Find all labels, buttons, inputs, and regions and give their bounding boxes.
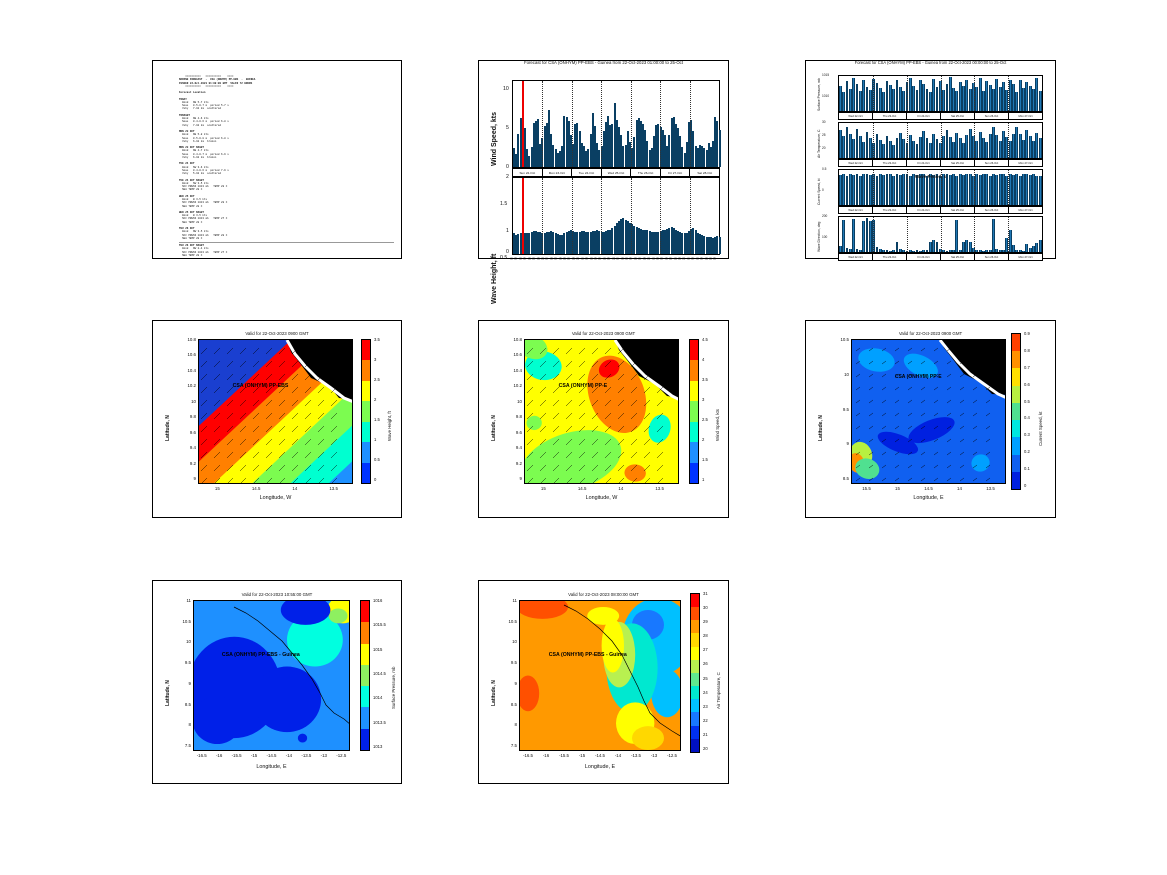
stack-plot-area-1 <box>838 122 1043 159</box>
bar <box>719 130 721 167</box>
map_current-colorbar-tick: 0.7 <box>1024 365 1030 370</box>
day-label-cell: Fri 24-Oct <box>907 160 941 166</box>
gridline <box>974 76 975 111</box>
colorbar-segment <box>362 360 370 380</box>
gridline <box>941 76 942 111</box>
colorbar-segment <box>691 647 699 660</box>
contour-blob <box>194 696 242 744</box>
wave-ytick-0: 0 <box>506 249 509 255</box>
map_wind-colorbar-tick: 3.5 <box>702 377 708 382</box>
airtemp-map-colorbar <box>690 593 700 753</box>
map_wind-colorbar-tick: 1 <box>702 477 704 482</box>
day-label-cell: Mon 23-Oct <box>543 169 573 176</box>
map_airtemp-ytick: 10.5 <box>504 619 517 624</box>
map_current-xtick: 15 <box>889 486 907 491</box>
stack-ytick: 0 <box>822 188 824 192</box>
day-label-cell: Tue 24-Oct <box>572 169 602 176</box>
map_pressure-ytick: 9 <box>178 681 191 686</box>
stack-ylabel-2: Current Speed, kt <box>817 178 821 205</box>
map_pressure-ytick: 8.5 <box>178 702 191 707</box>
map_wave-xtick: 14 <box>286 486 304 491</box>
colorbar-segment <box>691 620 699 633</box>
day-label-cell: Sun 26-Oct <box>975 160 1009 166</box>
gridline <box>941 123 942 158</box>
stack-title: Forecast for CSA (ONHYM) PP-EBS - Guinea… <box>806 60 1055 65</box>
stack-ytick: 20 <box>822 146 826 150</box>
stack-day-strip-2: Wed 22-OctThu 23-OctFri 24-OctSat 25-Oct… <box>838 206 1043 214</box>
day-label-cell: Fri 24-Oct <box>907 207 941 213</box>
map_wave-ytick: 9.4 <box>183 445 196 450</box>
colorbar-segment <box>361 601 369 622</box>
day-label-cell: Fri 24-Oct <box>907 254 941 260</box>
colorbar-segment <box>691 699 699 712</box>
colorbar-segment <box>691 594 699 607</box>
map_airtemp-xtick: -15 <box>573 753 591 758</box>
map_airtemp-xtick: -12.5 <box>663 753 681 758</box>
map_pressure-ytick: 10.5 <box>178 619 191 624</box>
day-label-cell: Thu 23-Oct <box>873 113 907 119</box>
colorbar-segment <box>690 340 698 360</box>
wind-speed-plot-area <box>512 80 720 168</box>
stack-plot-area-3 <box>838 216 1043 253</box>
colorbar-segment <box>1012 420 1020 437</box>
wind-map-xlabel: Longitude, W <box>524 495 679 501</box>
map_airtemp-colorbar-tick: 25 <box>703 676 708 681</box>
colorbar-segment <box>361 665 369 686</box>
day-label-cell: Thu 26-Oct <box>631 169 661 176</box>
wave-map-axes[interactable]: CSA (ONHYM) PP-EBS <box>198 339 353 484</box>
map_airtemp-xtick: -14 <box>609 753 627 758</box>
airtemp-map-ylabel: Latitude, N <box>491 680 497 706</box>
map_current-xtick: 14 <box>951 486 969 491</box>
map_wave-xtick: 13.5 <box>325 486 343 491</box>
map_airtemp-colorbar-tick: 27 <box>703 647 708 652</box>
bar <box>1039 91 1042 111</box>
map_wind-ytick: 10 <box>509 399 522 404</box>
wind-day-strip: Sun 22-OctMon 23-OctTue 24-OctWed 25-Oct… <box>512 168 720 177</box>
stack-ytick: 25 <box>822 133 826 137</box>
map_airtemp-ytick: 8 <box>504 722 517 727</box>
colorbar-segment <box>1012 455 1020 472</box>
colorbar-segment <box>690 463 698 483</box>
gridline <box>1008 217 1009 252</box>
map_pressure-overlay-label: CSA (ONHYM) PP-EBS - Guinea <box>222 652 300 658</box>
map_airtemp-colorbar-tick: 30 <box>703 605 708 610</box>
map_current-xtick: 14.5 <box>920 486 938 491</box>
current-map-xlabel: Longitude, E <box>851 495 1006 501</box>
map_wave-overlay-label: CSA (ONHYM) PP-EBS <box>233 383 289 389</box>
panel-forecast-text: ========== ========== ====MARINE FORECAS… <box>152 60 402 259</box>
map_pressure-xtick: -16 <box>210 753 228 758</box>
wave-period-label: Wave Period, s <box>806 174 1055 179</box>
current-map-colorbar-title: Current Speed, kt <box>1038 412 1043 446</box>
report-line: SEA TEMP 28 C <box>179 237 391 240</box>
map_current-ytick: 9.5 <box>836 407 849 412</box>
colorbar-segment <box>1012 437 1020 454</box>
map_wave-colorbar-tick: 0.5 <box>374 457 380 462</box>
map_current-ytick: 9 <box>836 441 849 446</box>
map_wave-ytick: 10.2 <box>183 383 196 388</box>
day-label-cell: Fri 27-Oct <box>661 169 691 176</box>
map_airtemp-xtick: -14.5 <box>591 753 609 758</box>
map_current-colorbar-tick: 0.8 <box>1024 348 1030 353</box>
stack-ytick: 100 <box>822 235 827 239</box>
map_pressure-xtick: -14 <box>280 753 298 758</box>
day-label-cell: Wed 22-Oct <box>839 113 873 119</box>
map_current-colorbar-tick: 0.3 <box>1024 432 1030 437</box>
gridline <box>907 76 908 111</box>
map_current-colorbar-tick: 0.5 <box>1024 399 1030 404</box>
map_pressure-colorbar-tick: 1013 <box>373 744 382 749</box>
wind-speed-bars <box>513 81 719 167</box>
map_current-colorbar-tick: 0.9 <box>1024 331 1030 336</box>
colorbar-segment <box>691 607 699 620</box>
map_wind-xtick: 15 <box>534 486 552 491</box>
panel-surface-pressure-map: Valid for 22-Oct-2023 10:55:00 GMT Latit… <box>152 580 402 784</box>
day-label-cell: Wed 22-Oct <box>839 160 873 166</box>
contour-blob <box>632 726 664 750</box>
stack-ytick: 30 <box>822 120 826 124</box>
gridline <box>907 123 908 158</box>
pressure-map-axes[interactable]: CSA (ONHYM) PP-EBS - Guinea <box>193 600 350 751</box>
pressure-map-title: Valid for 22-Oct-2023 10:55:00 GMT <box>153 592 401 597</box>
map_airtemp-colorbar-tick: 31 <box>703 591 708 596</box>
wind-map-ylabel: Latitude, N <box>491 415 497 441</box>
contour-blob <box>298 734 307 743</box>
stack-plot-area-0 <box>838 75 1043 112</box>
hour-tick-strip: 0003060912151821000306091215182100030609… <box>512 255 720 262</box>
wind-map-colorbar <box>689 339 699 484</box>
airtemp-map-xlabel: Longitude, E <box>519 764 681 770</box>
day-label-cell: Mon 27-Oct <box>1009 254 1042 260</box>
wind-map-axes[interactable]: CSA (ONHYM) PP-E <box>524 339 679 484</box>
current-time-marker-wind <box>522 81 524 167</box>
day-label-cell: Mon 27-Oct <box>1009 207 1042 213</box>
map_airtemp-field <box>520 601 680 750</box>
map_current-colorbar-tick: 0 <box>1024 483 1026 488</box>
gridline <box>873 123 874 158</box>
map_current-ytick: 10 <box>836 372 849 377</box>
day-label-cell: Mon 27-Oct <box>1009 113 1042 119</box>
pressure-map-ylabel: Latitude, N <box>165 680 171 706</box>
colorbar-segment <box>691 660 699 673</box>
map_pressure-xtick: -14.5 <box>263 753 281 758</box>
map_pressure-colorbar-tick: 1014.5 <box>373 671 386 676</box>
gridline <box>873 217 874 252</box>
wave-map-colorbar-title: Wave Height, ft <box>387 411 392 441</box>
map_wave-ytick: 10.8 <box>183 337 196 342</box>
map_airtemp-ytick: 9.5 <box>504 660 517 665</box>
map_pressure-colorbar-tick: 1016 <box>373 598 382 603</box>
map_airtemp-colorbar-tick: 21 <box>703 732 708 737</box>
panel-wind-speed-map: Valid for 22-Oct-2023 0900 GMT Latitude,… <box>478 320 729 518</box>
map_pressure-colorbar-tick: 1013.5 <box>373 720 386 725</box>
map_wind-colorbar-tick: 2.5 <box>702 417 708 422</box>
day-label-cell: Fri 24-Oct <box>907 113 941 119</box>
current-time-marker-wave <box>522 178 524 254</box>
map_wind-ytick: 10.8 <box>509 337 522 342</box>
wind-map-colorbar-title: Wind Speed, kts <box>715 409 720 441</box>
map_airtemp-ytick: 10 <box>504 639 517 644</box>
map_wind-ytick: 9.4 <box>509 445 522 450</box>
map_wind-ytick: 10.6 <box>509 352 522 357</box>
map_airtemp-ytick: 7.5 <box>504 743 517 748</box>
stack-day-strip-1: Wed 22-OctThu 23-OctFri 24-OctSat 25-Oct… <box>838 159 1043 167</box>
gridline <box>1008 76 1009 111</box>
wave-height-axis-label: Wave Height, ft <box>491 254 498 304</box>
wave-ytick-1: 1 <box>506 228 509 234</box>
wave-ytick-15: 1.5 <box>500 201 507 207</box>
map_wind-ytick: 9.8 <box>509 414 522 419</box>
day-label-cell: Wed 22-Oct <box>839 254 873 260</box>
colorbar-segment <box>690 422 698 442</box>
map_airtemp-ytick: 8.5 <box>504 702 517 707</box>
day-label-cell: Sat 25-Oct <box>941 160 975 166</box>
map_airtemp-colorbar-tick: 29 <box>703 619 708 624</box>
map_pressure-ytick: 7.5 <box>178 743 191 748</box>
map_wave-colorbar-tick: 2.5 <box>374 377 380 382</box>
map_airtemp-xtick: -13 <box>645 753 663 758</box>
bar <box>852 219 855 252</box>
map_airtemp-overlay-label: CSA (ONHYM) PP-EBS - Guinea <box>549 652 627 658</box>
map_current-colorbar-tick: 0.6 <box>1024 382 1030 387</box>
map_airtemp-colorbar-tick: 24 <box>703 690 708 695</box>
wave-map-xlabel: Longitude, W <box>198 495 353 501</box>
map_wind-colorbar-tick: 2 <box>702 437 704 442</box>
map_pressure-xtick: -13.5 <box>297 753 315 758</box>
colorbar-segment <box>1012 386 1020 403</box>
day-label-cell: Wed 25-Oct <box>602 169 632 176</box>
colorbar-segment <box>690 442 698 462</box>
map_wave-xtick: 15 <box>208 486 226 491</box>
current-map-axes[interactable]: CSA (ONHYM) PP-E <box>851 339 1006 484</box>
stack-ytick: 1015 <box>822 73 829 77</box>
colorbar-segment <box>361 707 369 728</box>
day-label-cell: Sun 26-Oct <box>975 113 1009 119</box>
colorbar-segment <box>691 686 699 699</box>
day-label-cell: Sun 22-Oct <box>513 169 543 176</box>
map_airtemp-xtick: -16.5 <box>519 753 537 758</box>
gridline <box>974 123 975 158</box>
map_wind-colorbar-tick: 3 <box>702 397 704 402</box>
panel-four-parameter-stack: Forecast for CSA (ONHYM) PP-EBS - Guinea… <box>805 60 1056 259</box>
map_airtemp-xtick: -15.5 <box>555 753 573 758</box>
stack-ytick: 200 <box>822 214 827 218</box>
map_pressure-colorbar-tick: 1015 <box>373 647 382 652</box>
map_wave-colorbar-tick: 0 <box>374 477 376 482</box>
stack-day-strip-0: Wed 22-OctThu 23-OctFri 24-OctSat 25-Oct… <box>838 112 1043 120</box>
map_wave-ytick: 10.6 <box>183 352 196 357</box>
colorbar-segment <box>690 360 698 380</box>
colorbar-segment <box>362 442 370 462</box>
map_wave-ytick: 9.2 <box>183 461 196 466</box>
bar <box>719 237 721 254</box>
contour-blob <box>329 608 348 623</box>
airtemp-map-axes[interactable]: CSA (ONHYM) PP-EBS - Guinea <box>519 600 681 751</box>
map_wind-overlay-label: CSA (ONHYM) PP-E <box>559 383 608 389</box>
map_wave-xtick: 14.5 <box>247 486 265 491</box>
map_airtemp-xtick: -16 <box>537 753 555 758</box>
wave-map-colorbar <box>361 339 371 484</box>
hour-label: 18 <box>714 256 721 260</box>
map_wave-colorbar-tick: 1.5 <box>374 417 380 422</box>
gridline <box>1008 123 1009 158</box>
map_pressure-xtick: -15 <box>245 753 263 758</box>
pressure-map-colorbar-title: Surface Pressure, mb <box>391 667 396 709</box>
colorbar-segment <box>362 381 370 401</box>
map_wave-ytick: 9 <box>183 476 196 481</box>
day-label-cell: Sat 25-Oct <box>941 207 975 213</box>
report-line: SEA TEMP 28 C <box>179 254 391 257</box>
map_wave-colorbar-tick: 3.5 <box>374 337 380 342</box>
day-label-cell: Sat 28-Oct <box>690 169 719 176</box>
map_wave-colorbar-tick: 3 <box>374 357 376 362</box>
map_wind-colorbar-tick: 4.5 <box>702 337 708 342</box>
map_pressure-ytick: 8 <box>178 722 191 727</box>
pressure-map-xlabel: Longitude, E <box>193 764 350 770</box>
panel-air-temperature-map: Valid for 22-Oct-2023 08:00:00 GMT Latit… <box>478 580 729 784</box>
map_pressure-ytick: 10 <box>178 639 191 644</box>
map_airtemp-colorbar-tick: 26 <box>703 661 708 666</box>
map_airtemp-colorbar-tick: 28 <box>703 633 708 638</box>
wave-map-title: Valid for 22-Oct-2023 0900 GMT <box>153 331 401 336</box>
day-label-cell: Sun 26-Oct <box>975 207 1009 213</box>
map_wind-ytick: 10.4 <box>509 368 522 373</box>
wave-ytick-05: 0.5 <box>500 255 507 261</box>
map_wave-colorbar-tick: 1 <box>374 437 376 442</box>
day-label-cell: Thu 23-Oct <box>873 207 907 213</box>
map_pressure-colorbar-tick: 1014 <box>373 695 382 700</box>
colorbar-segment <box>691 633 699 646</box>
colorbar-segment <box>361 686 369 707</box>
stack-day-strip-3: Wed 22-OctThu 23-OctFri 24-OctSat 25-Oct… <box>838 253 1043 261</box>
current-map-ylabel: Latitude, N <box>818 415 824 441</box>
gridline <box>974 217 975 252</box>
wave-map-ylabel: Latitude, N <box>165 415 171 441</box>
colorbar-segment <box>362 401 370 421</box>
map_wave-ytick: 9.6 <box>183 430 196 435</box>
map_airtemp-colorbar-tick: 20 <box>703 746 708 751</box>
day-label-cell: Sat 25-Oct <box>941 254 975 260</box>
map_current-colorbar-tick: 0.4 <box>1024 415 1030 420</box>
map_wind-colorbar-tick: 4 <box>702 357 704 362</box>
map_current-ytick: 8.5 <box>836 476 849 481</box>
stack-ylabel-1: Air Temperature, C <box>817 130 821 158</box>
wind-speed-axis-label: Wind Speed, kts <box>491 112 498 166</box>
colorbar-segment <box>691 712 699 725</box>
colorbar-segment <box>1012 368 1020 385</box>
colorbar-segment <box>362 463 370 483</box>
wind-ytick-10: 10 <box>503 86 509 92</box>
map_pressure-ytick: 9.5 <box>178 660 191 665</box>
map_wind-xtick: 13.5 <box>651 486 669 491</box>
colorbar-segment <box>362 422 370 442</box>
stack-ytick: 0.5 <box>822 167 826 171</box>
map_pressure-field <box>194 601 349 750</box>
panel-wind-wave-timeseries: Forecast for CSA (ONHYM) PP-EBS - Guinea… <box>478 60 729 259</box>
map_airtemp-xtick: -13.5 <box>627 753 645 758</box>
wave-ytick-2: 2 <box>506 174 509 180</box>
pressure-map-colorbar <box>360 600 370 751</box>
gridline <box>941 217 942 252</box>
day-label-cell: Mon 27-Oct <box>1009 160 1042 166</box>
bar <box>1039 176 1042 205</box>
map_current-colorbar-tick: 0.2 <box>1024 449 1030 454</box>
map_wave-ytick: 10.4 <box>183 368 196 373</box>
report-divider <box>179 242 394 243</box>
map_wave-field <box>199 340 352 483</box>
colorbar-segment <box>691 739 699 752</box>
map_wind-ytick: 9.2 <box>509 461 522 466</box>
map_wind-field <box>525 340 678 483</box>
map_airtemp-ytick: 11 <box>504 598 517 603</box>
colorbar-segment <box>362 340 370 360</box>
airtemp-map-colorbar-title: Air Temperature, C <box>716 672 721 709</box>
map_wind-xtick: 14.5 <box>573 486 591 491</box>
panel-current-speed-map: Valid for 22-Oct-2023 0900 GMT Latitude,… <box>805 320 1056 518</box>
wave-height-plot-area <box>512 177 720 255</box>
colorbar-segment <box>361 622 369 643</box>
map_wave-ytick: 9.8 <box>183 414 196 419</box>
map_current-field <box>852 340 1005 483</box>
wind-ytick-0: 0 <box>506 164 509 170</box>
wind-map-title: Valid for 22-Oct-2023 0900 GMT <box>479 331 728 336</box>
map_wind-colorbar-tick: 1.5 <box>702 457 708 462</box>
panel-wave-height-map: Valid for 22-Oct-2023 0900 GMT Latitude,… <box>152 320 402 518</box>
map_pressure-xtick: -16.5 <box>193 753 211 758</box>
day-label-cell: Thu 23-Oct <box>873 160 907 166</box>
gridline <box>907 217 908 252</box>
map_pressure-xtick: -15.5 <box>228 753 246 758</box>
wind-ytick-5: 5 <box>506 125 509 131</box>
map_airtemp-ytick: 9 <box>504 681 517 686</box>
map_pressure-xtick: -13 <box>315 753 333 758</box>
day-label-cell: Sun 26-Oct <box>975 254 1009 260</box>
colorbar-segment <box>361 644 369 665</box>
stack-ylabel-3: Wave Direction, deg <box>817 222 821 252</box>
colorbar-segment <box>1012 351 1020 368</box>
day-label-cell: Wed 22-Oct <box>839 207 873 213</box>
colorbar-segment <box>691 726 699 739</box>
map_pressure-colorbar-tick: 1015.5 <box>373 622 386 627</box>
stack-ylabel-0: Surface Pressure, mb <box>817 78 821 111</box>
map_pressure-xtick: -12.5 <box>332 753 350 758</box>
colorbar-segment <box>1012 403 1020 420</box>
wave-height-bars <box>513 178 719 254</box>
bar <box>992 219 995 252</box>
map_wave-colorbar-tick: 2 <box>374 397 376 402</box>
contour-blob <box>602 619 624 673</box>
current-map-colorbar <box>1011 333 1021 490</box>
contour-blob <box>253 667 321 733</box>
timeseries-title: Forecast for CSA (ONHYM) PP-EBS - Guinea… <box>479 60 728 65</box>
map_wind-xtick: 14 <box>612 486 630 491</box>
colorbar-segment <box>1012 334 1020 351</box>
day-label-cell: Thu 23-Oct <box>873 254 907 260</box>
map_airtemp-colorbar-tick: 23 <box>703 704 708 709</box>
colorbar-segment <box>361 729 369 750</box>
map_current-overlay-label: CSA (ONHYM) PP-E <box>895 374 942 380</box>
map_airtemp-colorbar-tick: 22 <box>703 718 708 723</box>
gridline <box>873 76 874 111</box>
map_current-colorbar-tick: 0.1 <box>1024 466 1030 471</box>
day-label-cell: Sat 25-Oct <box>941 113 975 119</box>
bar <box>1039 240 1042 252</box>
forecast-text-body: ========== ========== ====MARINE FORECAS… <box>179 75 391 257</box>
map_current-ytick: 10.5 <box>836 337 849 342</box>
colorbar-segment <box>690 381 698 401</box>
map_wind-ytick: 9.6 <box>509 430 522 435</box>
